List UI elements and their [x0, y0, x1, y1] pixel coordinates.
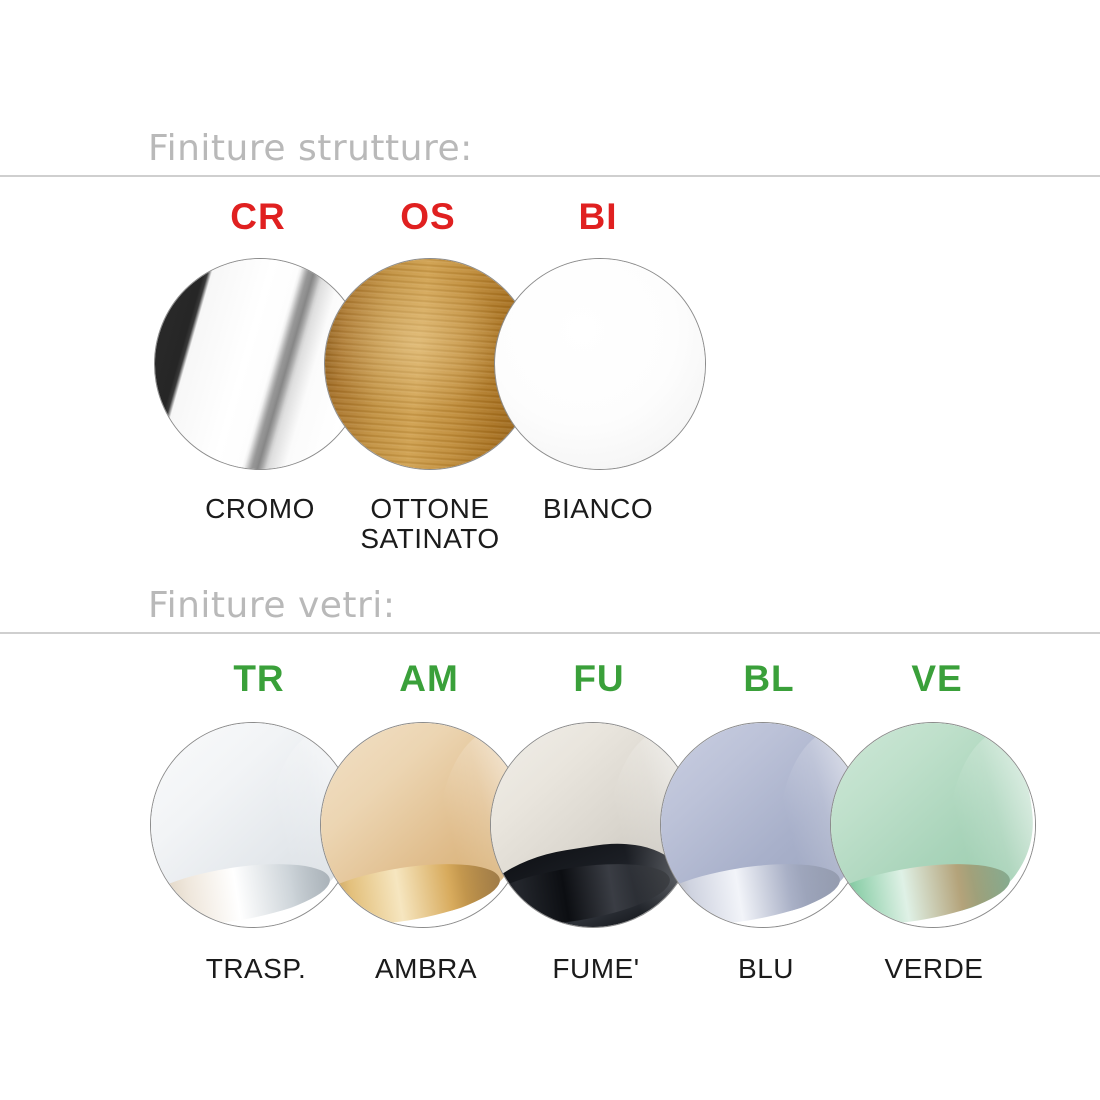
code-bl[interactable]: BL — [690, 658, 848, 700]
finiture-legend-page: Finiture strutture: CR OS BI CROMO OTTON… — [0, 0, 1100, 1100]
verde-swatch[interactable] — [830, 722, 1036, 928]
label-ambra: AMBRA — [346, 954, 506, 984]
section-title-strutture: Finiture strutture: — [0, 128, 1100, 177]
bianco-finish-fill — [494, 258, 706, 470]
section-title-vetri: Finiture vetri: — [0, 585, 1100, 634]
code-tr[interactable]: TR — [180, 658, 338, 700]
label-trasp: TRASP. — [176, 954, 336, 984]
code-am[interactable]: AM — [350, 658, 508, 700]
code-cr[interactable]: CR — [178, 196, 338, 238]
bianco-swatch[interactable] — [494, 258, 706, 470]
label-bianco: BIANCO — [518, 494, 678, 524]
code-os[interactable]: OS — [348, 196, 508, 238]
code-fu[interactable]: FU — [520, 658, 678, 700]
label-ottone-satinato: OTTONE SATINATO — [348, 494, 512, 554]
label-verde: VERDE — [854, 954, 1014, 984]
label-blu: BLU — [686, 954, 846, 984]
code-ve[interactable]: VE — [858, 658, 1016, 700]
code-bi[interactable]: BI — [518, 196, 678, 238]
label-cromo: CROMO — [180, 494, 340, 524]
label-fume: FUME' — [516, 954, 676, 984]
